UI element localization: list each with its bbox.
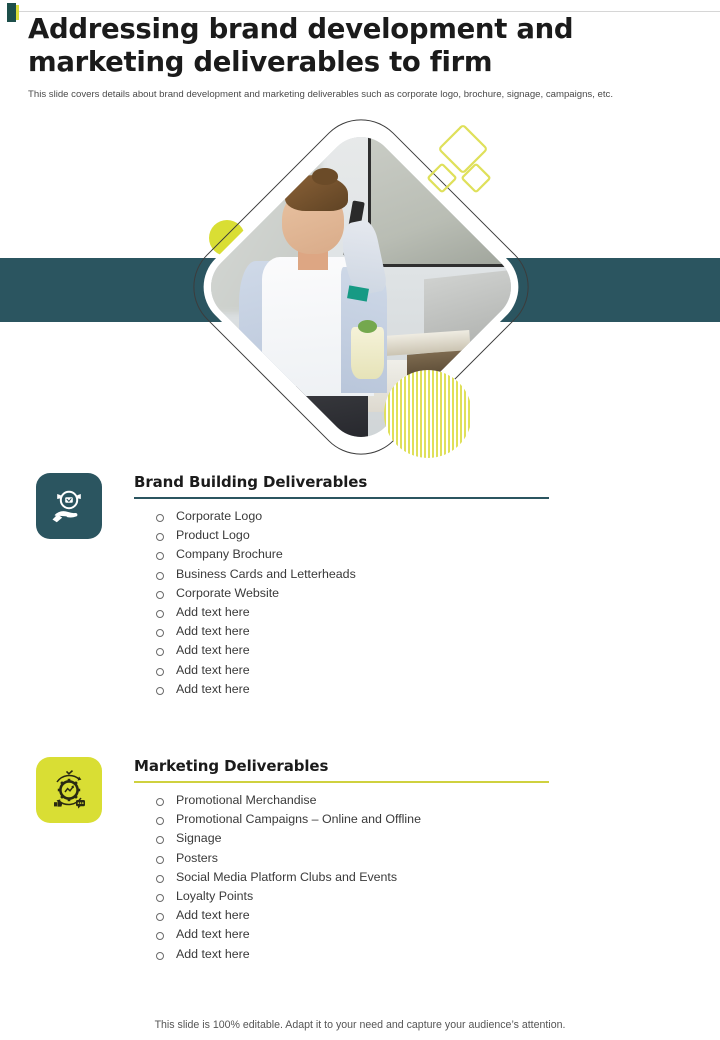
hand-holding-brand-icon [36, 473, 102, 539]
page-title: Addressing brand development and marketi… [28, 13, 694, 79]
list-item: Corporate Logo [156, 507, 594, 526]
section-heading: Marketing Deliverables [134, 757, 594, 781]
list-item: Add text here [156, 603, 594, 622]
list-item: Add text here [156, 622, 594, 641]
slide-canvas: Addressing brand development and marketi… [0, 0, 720, 1040]
hero-graphic [186, 112, 536, 462]
list-item: Corporate Website [156, 584, 594, 603]
corner-marker-green [7, 3, 16, 22]
bullet-list-marketing: Promotional Merchandise Promotional Camp… [156, 791, 594, 964]
list-item: Add text here [156, 641, 594, 660]
list-item: Social Media Platform Clubs and Events [156, 868, 594, 887]
section-heading: Brand Building Deliverables [134, 473, 594, 497]
section-rule [134, 497, 549, 499]
list-item: Add text here [156, 945, 594, 964]
outlined-diamond-cluster-icon [426, 124, 516, 204]
list-item: Add text here [156, 680, 594, 699]
list-item: Add text here [156, 661, 594, 680]
list-item: Promotional Campaigns – Online and Offli… [156, 810, 594, 829]
slide-header: Addressing brand development and marketi… [28, 13, 694, 102]
bullet-list-brand-building: Corporate Logo Product Logo Company Broc… [156, 507, 594, 699]
list-item: Product Logo [156, 526, 594, 545]
list-item: Add text here [156, 906, 594, 925]
section-body: Brand Building Deliverables Corporate Lo… [134, 473, 594, 699]
slide-footer-note: This slide is 100% editable. Adapt it to… [0, 1019, 720, 1031]
list-item: Company Brochure [156, 545, 594, 564]
list-item: Posters [156, 849, 594, 868]
list-item: Signage [156, 829, 594, 848]
list-item: Add text here [156, 925, 594, 944]
list-item: Promotional Merchandise [156, 791, 594, 810]
page-subtitle: This slide covers details about brand de… [28, 88, 678, 102]
list-item: Business Cards and Letterheads [156, 565, 594, 584]
list-item: Loyalty Points [156, 887, 594, 906]
top-divider [18, 11, 720, 12]
gear-cycle-marketing-icon [36, 757, 102, 823]
section-rule [134, 781, 549, 783]
section-body: Marketing Deliverables Promotional Merch… [134, 757, 594, 964]
striped-circle-decoration [384, 370, 472, 458]
